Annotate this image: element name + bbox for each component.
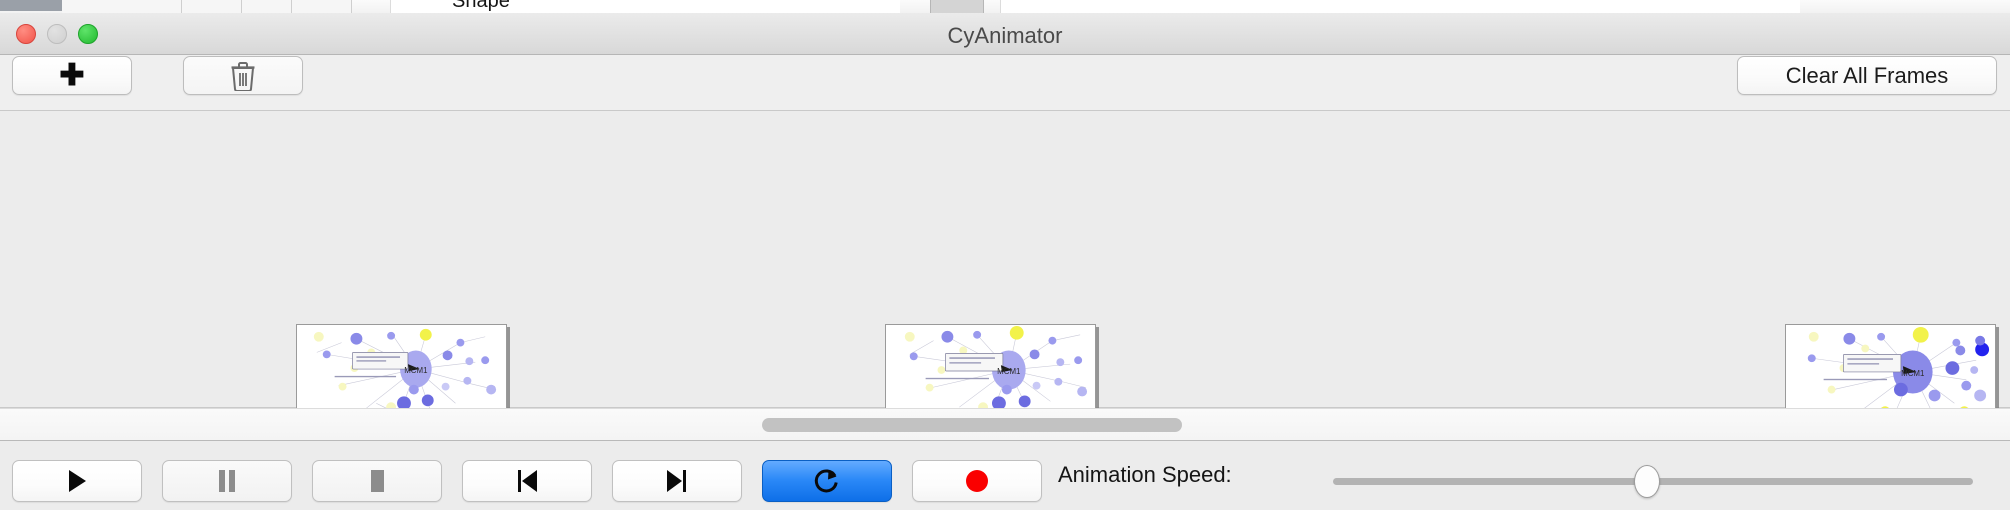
skip-forward-button[interactable]	[612, 460, 742, 502]
clear-all-frames-label: Clear All Frames	[1786, 63, 1949, 89]
network-graph-thumbnail: MCM1	[297, 325, 506, 416]
play-button[interactable]	[12, 460, 142, 502]
background-chunk	[182, 0, 242, 13]
keyframe-thumbnail[interactable]: MCM1	[885, 324, 1096, 417]
record-icon	[964, 468, 990, 494]
pause-icon	[216, 468, 238, 494]
background-window-label: Shape	[452, 0, 510, 13]
play-icon	[66, 468, 88, 494]
svg-text:MCM1: MCM1	[997, 367, 1020, 376]
background-chunk	[242, 0, 292, 13]
background-chunk	[1000, 0, 1800, 13]
background-chunk	[930, 0, 984, 13]
title-bar: CyAnimator	[0, 13, 2010, 55]
background-window-strip: Shape	[0, 0, 2010, 13]
network-graph-thumbnail: MCM1	[886, 325, 1095, 416]
stop-icon	[366, 468, 388, 494]
delete-frame-button[interactable]	[183, 56, 303, 95]
timeline-panel[interactable]: MCM1	[0, 111, 2010, 408]
clear-all-frames-button[interactable]: Clear All Frames	[1737, 56, 1997, 95]
keyframe-thumbnail[interactable]: MCM1	[1785, 324, 1996, 417]
background-chunk	[62, 0, 182, 13]
keyframe-thumbnail[interactable]: MCM1	[296, 324, 507, 417]
stop-button[interactable]	[312, 460, 442, 502]
svg-text:MCM1: MCM1	[404, 366, 427, 375]
background-chunk	[292, 0, 352, 13]
record-button[interactable]	[912, 460, 1042, 502]
loop-button[interactable]	[762, 460, 892, 502]
background-window-dark-block	[0, 0, 62, 11]
pause-button[interactable]	[162, 460, 292, 502]
network-graph-thumbnail: MCM1	[1786, 325, 1995, 416]
trash-icon	[230, 61, 256, 91]
add-frame-button[interactable]: ✚	[12, 56, 132, 95]
window-title: CyAnimator	[0, 23, 2010, 49]
svg-text:MCM1: MCM1	[1901, 369, 1924, 378]
loop-icon	[813, 467, 841, 495]
skip-back-icon	[514, 468, 540, 494]
animation-speed-slider-thumb[interactable]	[1634, 465, 1660, 498]
skip-forward-icon	[664, 468, 690, 494]
plus-icon: ✚	[59, 61, 84, 91]
animation-speed-label: Animation Speed:	[1058, 462, 1232, 488]
cyanimator-window: Shape CyAnimator ✚ Clear All Frames	[0, 0, 2010, 510]
timeline-scrollbar-thumb[interactable]	[762, 418, 1182, 432]
skip-back-button[interactable]	[462, 460, 592, 502]
